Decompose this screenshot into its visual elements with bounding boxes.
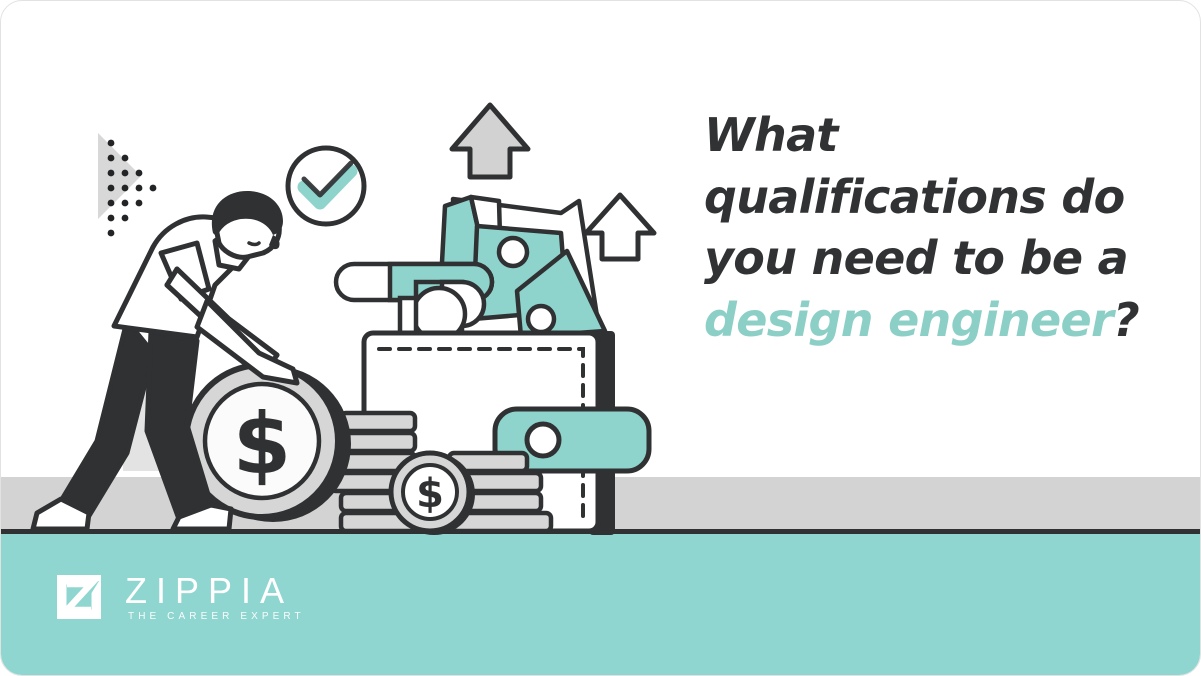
dot-arrow-pattern bbox=[98, 133, 156, 236]
up-arrow-outline-icon bbox=[586, 195, 654, 259]
check-circle-icon bbox=[288, 148, 364, 224]
dollar-coin-small: $ bbox=[391, 453, 475, 535]
zippia-z-monogram-icon bbox=[53, 571, 105, 623]
headline-line-1: What bbox=[704, 108, 838, 162]
illustration-person-pushing-dollar-coin-with-wallet: $ $ bbox=[1, 1, 701, 561]
zippia-logo[interactable]: ZIPPIA THE CAREER EXPERT bbox=[53, 571, 305, 623]
headline: What qualifications do you need to be a … bbox=[704, 105, 1174, 352]
zippia-article-header-card: $ $ bbox=[0, 0, 1201, 676]
headline-line-2: qualifications do bbox=[704, 170, 1124, 224]
banknotes bbox=[336, 197, 605, 342]
headline-line-3: you need to be a bbox=[704, 231, 1128, 285]
headline-question-mark: ? bbox=[1113, 293, 1139, 347]
headline-accent: design engineer bbox=[704, 293, 1113, 347]
logo-tagline: THE CAREER EXPERT bbox=[125, 612, 305, 622]
svg-text:$: $ bbox=[233, 395, 291, 493]
logo-wordmark: ZIPPIA THE CAREER EXPERT bbox=[125, 573, 305, 622]
svg-text:$: $ bbox=[416, 471, 444, 517]
up-arrow-filled-icon bbox=[452, 105, 528, 177]
logo-name: ZIPPIA bbox=[125, 573, 305, 609]
